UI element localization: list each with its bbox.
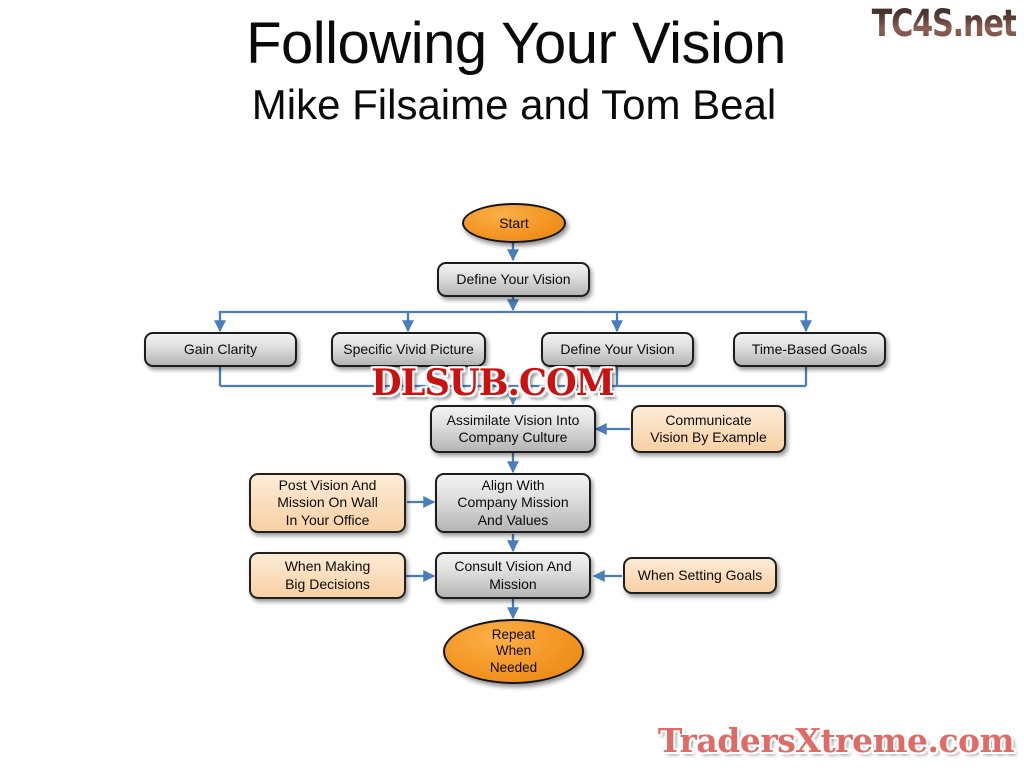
node-post-vision-on-wall-line3: In Your Office [286,512,370,529]
node-start-label: Start [499,215,529,232]
node-align-with-company-mission[interactable]: Align With Company Mission And Values [435,473,591,533]
node-start[interactable]: Start [462,203,566,243]
node-communicate-vision-line1: Communicate [665,412,751,429]
node-post-vision-on-wall-line2: Mission On Wall [277,494,378,511]
node-when-setting-goals-label: When Setting Goals [638,567,763,584]
node-repeat-line2: When [496,643,531,659]
node-time-based-goals[interactable]: Time-Based Goals [733,332,886,367]
watermark-dlsub: DLSUB.COM [371,362,614,404]
node-align-line2: Company Mission [457,494,568,511]
node-repeat-line1: Repeat [492,627,536,643]
node-assimilate-vision[interactable]: Assimilate Vision Into Company Culture [430,405,596,453]
node-post-vision-on-wall-line1: Post Vision And [279,477,377,494]
node-communicate-vision[interactable]: Communicate Vision By Example [631,405,786,453]
node-align-line1: Align With [481,477,544,494]
node-define-your-vision-1-label: Define Your Vision [456,271,570,288]
node-repeat-when-needed[interactable]: Repeat When Needed [443,619,584,684]
node-time-based-goals-label: Time-Based Goals [752,341,867,358]
node-assimilate-vision-line1: Assimilate Vision Into [447,412,580,429]
node-consult-line1: Consult Vision And [454,558,571,575]
node-post-vision-on-wall[interactable]: Post Vision And Mission On Wall In Your … [249,473,406,533]
node-define-your-vision-1[interactable]: Define Your Vision [437,262,590,297]
node-when-making-big-decisions[interactable]: When Making Big Decisions [249,552,406,599]
node-assimilate-vision-line2: Company Culture [459,429,568,446]
node-bigdecisions-line1: When Making [285,558,371,575]
node-gain-clarity-label: Gain Clarity [184,341,257,358]
node-communicate-vision-line2: Vision By Example [650,429,766,446]
node-define-your-vision-2-label: Define Your Vision [560,341,674,358]
node-specific-vivid-picture-label: Specific Vivid Picture [343,341,473,358]
node-gain-clarity[interactable]: Gain Clarity [144,332,297,367]
node-when-setting-goals[interactable]: When Setting Goals [623,557,777,594]
node-align-line3: And Values [478,512,549,529]
watermark-tradersxtreme: TradersXtreme.com [658,721,1014,760]
node-consult-line2: Mission [489,576,536,593]
node-repeat-line3: Needed [490,660,537,676]
node-consult-vision-and-mission[interactable]: Consult Vision And Mission [435,552,591,599]
node-bigdecisions-line2: Big Decisions [285,576,370,593]
